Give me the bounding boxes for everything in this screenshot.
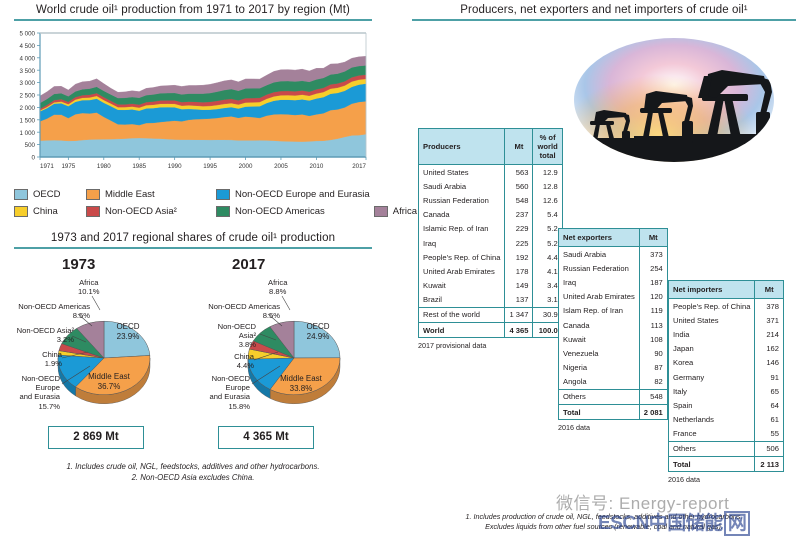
header-rule [14,19,372,21]
svg-text:3 000: 3 000 [20,80,36,87]
cell-mt: 149 [505,279,533,293]
cell-name: Iraq [419,236,505,250]
pumpjack-svg [556,36,792,171]
cell-name: Angola [559,375,640,390]
legend-item-middle-east: Middle East [86,189,216,200]
pie17-label-eurasia: Non-OECD Europe and Eurasia 15.8% [180,374,250,411]
importers-col-name: Net importers [669,281,755,299]
exporters-table: Net exporters Mt Saudi Arabia373Russian … [558,228,664,432]
chart-legend: OECD Middle East Non-OECD Europe and Eur… [14,186,386,222]
table-row: Spain64 [669,398,784,412]
svg-text:2017: 2017 [352,163,366,170]
pies-panel-title: 1973 and 2017 regional shares of crude o… [14,232,372,244]
table-row: Iraq2255.2 [419,236,563,250]
pie73-inlabel-middle-east: Middle East 36.7% [80,372,138,391]
table-row: Germany91 [669,370,784,384]
cell-mt: 373 [639,247,667,262]
cell-name: Islamic Rep. of Iran [419,222,505,236]
table-row-total: Total2 081 [559,405,668,420]
legend-label-non-oecd-americas: Non-OECD Americas [235,206,325,217]
cell-pct: 12.9 [533,165,562,180]
cell-mt: 371 [755,313,784,327]
cell-name: People's Rep. of China [419,250,505,264]
cell-mt: 82 [639,375,667,390]
right-panel-header: Producers, net exporters and net importe… [412,4,796,21]
table-row: Kuwait108 [559,332,668,346]
cell-name: Saudi Arabia [419,179,505,193]
table-row: Japan162 [669,342,784,356]
cell-mt: 108 [639,332,667,346]
pie-section-notes: 1. Includes crude oil, NGL, feedstocks, … [14,462,372,483]
table-row: Russian Federation54812.6 [419,193,563,207]
table-row: United Arab Emirates1784.1 [419,264,563,278]
table-header-row: Net exporters Mt [559,229,668,247]
producers-col-pct: % of world total [533,129,562,165]
cell-mt: 178 [505,264,533,278]
table-row-others: Others506 [669,441,784,456]
cell-pct: 12.6 [533,193,562,207]
table-row: Canada113 [559,318,668,332]
cell-mt: 113 [639,318,667,332]
cell-mt: 90 [639,346,667,360]
cell-mt: 237 [505,208,533,222]
pie-note-1: 1. Includes crude oil, NGL, feedstocks, … [14,462,372,473]
exporters-table-body: Saudi Arabia373Russian Federation254Iraq… [559,247,668,420]
table-row: People's Rep. of China1924.4 [419,250,563,264]
table-row: Islam Rep. of Iran119 [559,304,668,318]
legend-swatch-oecd [14,189,28,200]
table-row: Nigeria87 [559,361,668,375]
table-row: People's Rep. of China378 [669,299,784,314]
pie17-label-africa: Africa 8.8% [268,278,287,296]
importers-table: Net importers Mt People's Rep. of China3… [668,280,784,484]
pie73-label-americas: Non-OECD Americas 8.5% [0,302,90,320]
oil-pumpjack-illustration [556,36,792,171]
cell-name: Canada [559,318,640,332]
cell-mt: 1 347 [505,307,533,322]
cell-name: Russian Federation [419,193,505,207]
importers-table-grid: Net importers Mt People's Rep. of China3… [668,280,784,472]
pie-chart-2017: Africa 8.8% Non-OECD Americas 8.5% Non-O… [190,280,386,430]
exporters-col-name: Net exporters [559,229,640,247]
table-header-row: Producers Mt % of world total [419,129,563,165]
cell-mt: 87 [639,361,667,375]
cell-mt: 378 [755,299,784,314]
cell-mt: 187 [639,275,667,289]
importers-col-mt: Mt [755,281,784,299]
cell-name: United Arab Emirates [559,290,640,304]
table-row: United Arab Emirates120 [559,290,668,304]
cell-name: Others [669,441,755,456]
pie-chart-1973: Africa 10.1% Non-OECD Americas 8.5% Non-… [0,280,196,430]
cell-mt: 137 [505,293,533,308]
legend-label-middle-east: Middle East [105,189,155,200]
legend-label-africa: Africa [393,206,417,217]
svg-text:2 000: 2 000 [20,105,36,112]
cell-name: People's Rep. of China [669,299,755,314]
table-row: Kuwait1493.4 [419,279,563,293]
cell-mt: 120 [639,290,667,304]
cell-name: Kuwait [419,279,505,293]
table-row: United States371 [669,313,784,327]
cell-mt: 162 [755,342,784,356]
table-row: India214 [669,327,784,341]
table-row-total: World4 365100.0 [419,323,563,338]
pies-header-rule [14,247,372,249]
importers-table-body: People's Rep. of China378United States37… [669,299,784,472]
legend-label-non-oecd-asia: Non-OECD Asia² [105,206,177,217]
exporters-table-note: 2016 data [558,420,664,432]
legend-swatch-non-oecd-americas [216,206,230,217]
pie-year-2017: 2017 [232,256,265,273]
cell-mt: 225 [505,236,533,250]
svg-text:5 000: 5 000 [20,31,36,38]
cell-mt: 548 [639,389,667,404]
legend-item-non-oecd-asia: Non-OECD Asia² [86,206,216,217]
cell-mt: 64 [755,398,784,412]
producers-table-body: United States56312.9Saudi Arabia56012.8R… [419,165,563,338]
cell-name: Iraq [559,275,640,289]
pie73-inlabel-oecd: OECD 23.9% [104,322,152,341]
table-row-total: Total2 113 [669,457,784,472]
cell-mt: 229 [505,222,533,236]
cell-name: Russian Federation [559,261,640,275]
pie-note-2: 2. Non-OECD Asia excludes China. [14,473,372,484]
table-row: United States56312.9 [419,165,563,180]
svg-text:2010: 2010 [310,163,324,170]
cell-pct: 5.4 [533,208,562,222]
cell-mt: 563 [505,165,533,180]
pie73-label-africa: Africa 10.1% [78,278,100,296]
table-row: Canada2375.4 [419,208,563,222]
table-row: Islamic Rep. of Iran2295.2 [419,222,563,236]
svg-text:1995: 1995 [203,163,217,170]
legend-label-oecd: OECD [33,189,60,200]
cell-mt: 4 365 [505,323,533,338]
cell-mt: 61 [755,413,784,427]
watermark-escn-latin: ESCN [598,513,649,534]
cell-name: United States [669,313,755,327]
cell-name: France [669,427,755,442]
pie-total-1973: 2 869 Mt [48,426,144,449]
watermark-escn-cn: 中国储能 [649,513,723,534]
svg-text:1985: 1985 [132,163,146,170]
producers-col-name: Producers [419,129,505,165]
area-chart-svg: 05001 0001 5002 0002 5003 0003 5004 0004… [14,27,372,179]
producers-col-mt: Mt [505,129,533,165]
table-row: Netherlands61 [669,413,784,427]
table-row-others: Others548 [559,389,668,404]
svg-text:2 500: 2 500 [20,93,36,100]
legend-label-non-oecd-europe-eurasia: Non-OECD Europe and Eurasia [235,189,370,200]
pie-charts-section: 1973 2017 Africa 10.1% Non-OECD Americas… [0,256,394,466]
table-row: Venezuela90 [559,346,668,360]
left-panel-header: World crude oil¹ production from 1971 to… [14,4,372,21]
right-panel-title: Producers, net exporters and net importe… [412,4,796,16]
table-row: Brazil1373.1 [419,293,563,308]
infographic-page: World crude oil¹ production from 1971 to… [0,0,800,543]
cell-name: Germany [669,370,755,384]
cell-mt: 119 [639,304,667,318]
cell-mt: 560 [505,179,533,193]
cell-name: World [419,323,505,338]
pie73-label-china: China 1.9% [0,350,62,368]
legend-swatch-non-oecd-europe-eurasia [216,189,230,200]
cell-name: Korea [669,356,755,370]
svg-text:1 000: 1 000 [20,130,36,137]
cell-name: Netherlands [669,413,755,427]
pie17-label-asia: Non-OECD Asia² 3.8% [186,322,256,350]
svg-text:500: 500 [25,142,36,149]
table-row: Russian Federation254 [559,261,668,275]
left-panel-title: World crude oil¹ production from 1971 to… [14,4,372,16]
pie17-label-americas: Non-OECD Americas 8.5% [184,302,280,320]
cell-mt: 548 [505,193,533,207]
cell-name: Italy [669,384,755,398]
cell-mt: 214 [755,327,784,341]
legend-swatch-china [14,206,28,217]
pie-year-1973: 1973 [62,256,95,273]
pies-panel-header: 1973 and 2017 regional shares of crude o… [14,232,372,249]
cell-mt: 55 [755,427,784,442]
table-row-rest: Rest of the world1 34730.9 [419,307,563,322]
legend-swatch-non-oecd-asia [86,206,100,217]
cell-mt: 192 [505,250,533,264]
svg-text:1 500: 1 500 [20,117,36,124]
cell-name: Kuwait [559,332,640,346]
exporters-col-mt: Mt [639,229,667,247]
pie17-inlabel-oecd: OECD 24.9% [294,322,342,341]
cell-name: Canada [419,208,505,222]
pie17-label-china: China 4.4% [192,352,254,370]
watermark-escn-box: 网 [724,511,751,536]
pie-total-2017: 4 365 Mt [218,426,314,449]
svg-text:1971: 1971 [40,163,54,170]
legend-item-oecd: OECD [14,189,86,200]
cell-name: Nigeria [559,361,640,375]
table-row: Korea146 [669,356,784,370]
cell-name: Islam Rep. of Iran [559,304,640,318]
cell-name: Saudi Arabia [559,247,640,262]
importers-table-note: 2016 data [668,472,784,484]
producers-table-grid: Producers Mt % of world total United Sta… [418,128,563,338]
cell-name: United States [419,165,505,180]
pie73-label-eurasia: Non-OECD Europe and Eurasia 15.7% [0,374,60,411]
cell-mt: 2 081 [639,405,667,420]
right-header-rule [412,19,796,21]
cell-name: Total [559,405,640,420]
svg-text:1980: 1980 [97,163,111,170]
svg-text:3 500: 3 500 [20,68,36,75]
producers-table: Producers Mt % of world total United Sta… [418,128,556,350]
pie17-inlabel-middle-east: Middle East 33.8% [272,374,330,393]
svg-text:0: 0 [32,155,36,162]
svg-text:4 500: 4 500 [20,43,36,50]
stacked-area-chart: 05001 0001 5002 0002 5003 0003 5004 0004… [14,27,372,179]
table-header-row: Net importers Mt [669,281,784,299]
cell-name: Brazil [419,293,505,308]
table-row: Italy65 [669,384,784,398]
producers-table-note: 2017 provisional data [418,338,556,350]
cell-name: India [669,327,755,341]
cell-name: Rest of the world [419,307,505,322]
legend-item-africa: Africa [374,206,417,217]
svg-text:2000: 2000 [239,163,253,170]
table-row: Angola82 [559,375,668,390]
cell-name: Total [669,457,755,472]
cell-mt: 146 [755,356,784,370]
cell-mt: 91 [755,370,784,384]
cell-name: Venezuela [559,346,640,360]
cell-name: Japan [669,342,755,356]
legend-swatch-africa [374,206,388,217]
svg-text:4 000: 4 000 [20,55,36,62]
svg-text:2005: 2005 [274,163,288,170]
cell-mt: 254 [639,261,667,275]
table-row: Saudi Arabia373 [559,247,668,262]
cell-name: Others [559,389,640,404]
table-row: Iraq187 [559,275,668,289]
table-row: Saudi Arabia56012.8 [419,179,563,193]
svg-text:1975: 1975 [61,163,75,170]
legend-label-china: China [33,206,58,217]
cell-mt: 506 [755,441,784,456]
legend-swatch-middle-east [86,189,100,200]
cell-name: United Arab Emirates [419,264,505,278]
legend-item-china: China [14,206,86,217]
legend-item-non-oecd-europe-eurasia: Non-OECD Europe and Eurasia [216,189,417,200]
svg-text:1990: 1990 [168,163,182,170]
pie73-label-asia: Non-OECD Asia² 3.2% [0,326,74,344]
cell-mt: 2 113 [755,457,784,472]
table-row: France55 [669,427,784,442]
watermark-escn: ESCN中国储能网 [598,508,750,535]
exporters-table-grid: Net exporters Mt Saudi Arabia373Russian … [558,228,668,420]
cell-name: Spain [669,398,755,412]
cell-mt: 65 [755,384,784,398]
cell-pct: 12.8 [533,179,562,193]
legend-item-non-oecd-americas: Non-OECD Americas Africa [216,206,417,217]
